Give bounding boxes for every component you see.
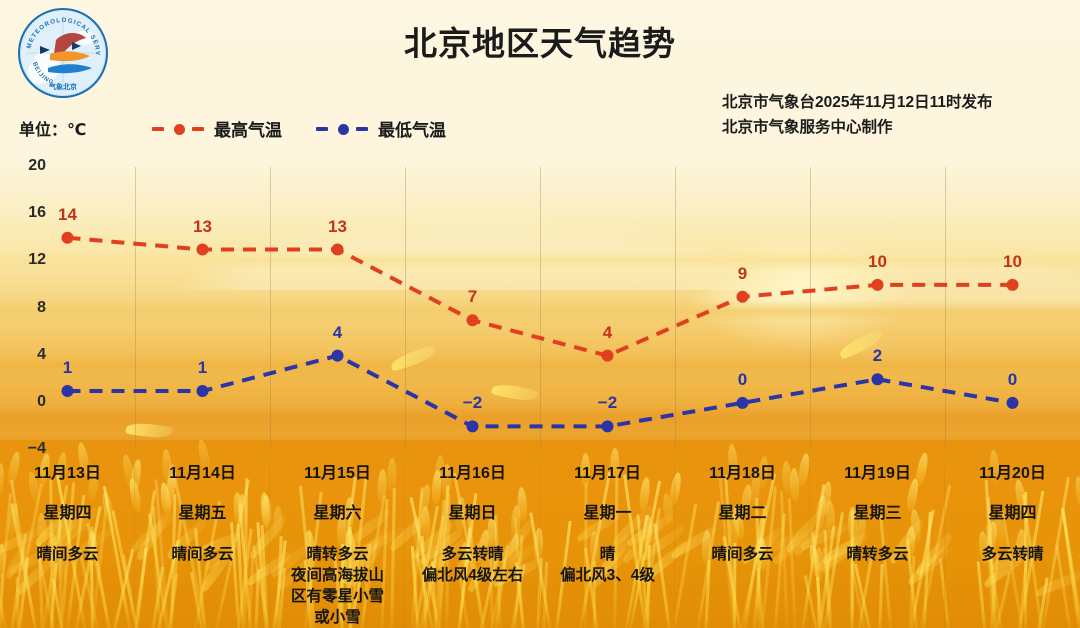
- high-temp-point: [737, 291, 749, 303]
- high-temp-value-label: 4: [578, 323, 638, 343]
- day-weather-description: 晴间多云: [675, 544, 810, 565]
- issue-line-2: 北京市气象服务中心制作: [722, 115, 993, 140]
- day-date: 11月16日: [405, 464, 540, 484]
- weather-trend-infographic: METEOROLOGICAL SERVICE BEIJING 气象北京 北京地区…: [0, 0, 1080, 628]
- logo-inner-text: 气象北京: [48, 82, 77, 91]
- high-temp-point: [467, 314, 479, 326]
- day-date: 11月14日: [135, 464, 270, 484]
- day-column: 11月17日星期一晴 偏北风3、4级: [540, 462, 675, 628]
- day-weekday: 星期二: [675, 504, 810, 524]
- day-weather-description: 晴 偏北风3、4级: [540, 544, 675, 586]
- day-weekday: 星期四: [0, 504, 135, 524]
- day-weather-description: 晴间多云: [135, 544, 270, 565]
- day-column: 11月18日星期二晴间多云: [675, 462, 810, 628]
- low-temp-point: [332, 350, 344, 362]
- low-temp-point: [467, 420, 479, 432]
- day-weekday: 星期一: [540, 504, 675, 524]
- low-temp-value-label: −2: [443, 393, 503, 413]
- day-weekday: 星期四: [945, 504, 1080, 524]
- day-weekday: 星期三: [810, 504, 945, 524]
- page-title: 北京地区天气趋势: [0, 17, 1080, 65]
- high-temp-value-label: 9: [713, 264, 773, 284]
- day-weather-description: 晴转多云 夜间高海拔山 区有零星小雪 或小雪: [270, 544, 405, 628]
- high-temp-point: [197, 244, 209, 256]
- day-weather-description: 多云转晴: [945, 544, 1080, 565]
- temperature-chart: 201612840−4 1413137491010114−2−2020: [0, 150, 1080, 470]
- low-temp-value-label: 1: [173, 358, 233, 378]
- high-temp-value-label: 10: [848, 252, 908, 272]
- day-date: 11月15日: [270, 464, 405, 484]
- high-temp-value-label: 13: [308, 217, 368, 237]
- day-column: 11月15日星期六晴转多云 夜间高海拔山 区有零星小雪 或小雪: [270, 462, 405, 628]
- low-temp-value-label: 4: [308, 323, 368, 343]
- low-temp-value-label: 1: [38, 358, 98, 378]
- day-date: 11月17日: [540, 464, 675, 484]
- day-date: 11月18日: [675, 464, 810, 484]
- legend-line-low-icon: [316, 123, 372, 135]
- high-temp-value-label: 7: [443, 287, 503, 307]
- low-temp-value-label: 0: [713, 370, 773, 390]
- day-column: 11月19日星期三晴转多云: [810, 462, 945, 628]
- high-temp-point: [332, 244, 344, 256]
- chart-legend: 最高气温 最低气温: [152, 116, 446, 141]
- legend-line-high-icon: [152, 123, 208, 135]
- unit-label: 单位：℃: [19, 116, 86, 140]
- low-temp-point: [602, 420, 614, 432]
- day-date: 11月13日: [0, 464, 135, 484]
- day-date: 11月19日: [810, 464, 945, 484]
- low-temp-value-label: −2: [578, 393, 638, 413]
- high-temp-point: [62, 232, 74, 244]
- issue-line-1: 北京市气象台2025年11月12日11时发布: [722, 90, 993, 115]
- low-temp-value-label: 0: [983, 370, 1043, 390]
- low-temp-point: [197, 385, 209, 397]
- legend-item-high: 最高气温: [152, 116, 282, 141]
- low-temp-point: [1007, 397, 1019, 409]
- low-temp-value-label: 2: [848, 346, 908, 366]
- day-weather-description: 多云转晴 偏北风4级左右: [405, 544, 540, 586]
- low-temp-point: [737, 397, 749, 409]
- day-column: 11月20日星期四多云转晴: [945, 462, 1080, 628]
- high-temp-point: [1007, 279, 1019, 291]
- day-weekday: 星期五: [135, 504, 270, 524]
- day-weather-description: 晴间多云: [0, 544, 135, 565]
- day-columns: 11月13日星期四晴间多云11月14日星期五晴间多云11月15日星期六晴转多云 …: [0, 462, 1080, 628]
- low-temp-point: [872, 373, 884, 385]
- day-weekday: 星期日: [405, 504, 540, 524]
- legend-label-low: 最低气温: [378, 116, 446, 141]
- high-temp-value-label: 14: [38, 205, 98, 225]
- day-weekday: 星期六: [270, 504, 405, 524]
- high-temp-point: [872, 279, 884, 291]
- high-temp-value-label: 10: [983, 252, 1043, 272]
- high-temp-point: [602, 350, 614, 362]
- day-weather-description: 晴转多云: [810, 544, 945, 565]
- legend-label-high: 最高气温: [214, 116, 282, 141]
- chart-series-layer: [0, 150, 1080, 470]
- day-date: 11月20日: [945, 464, 1080, 484]
- legend-item-low: 最低气温: [316, 116, 446, 141]
- issue-info: 北京市气象台2025年11月12日11时发布 北京市气象服务中心制作: [722, 90, 993, 140]
- high-temp-value-label: 13: [173, 217, 233, 237]
- day-column: 11月13日星期四晴间多云: [0, 462, 135, 628]
- low-temp-point: [62, 385, 74, 397]
- day-column: 11月16日星期日多云转晴 偏北风4级左右: [405, 462, 540, 628]
- day-column: 11月14日星期五晴间多云: [135, 462, 270, 628]
